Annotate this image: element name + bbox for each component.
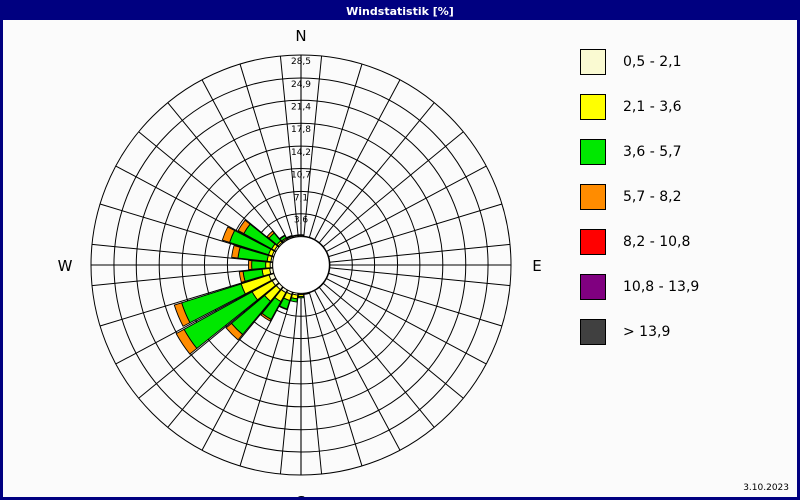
legend-label: 10,8 - 13,9: [623, 279, 699, 295]
grid-spoke: [309, 64, 362, 238]
legend-color-swatch: [580, 94, 606, 120]
windrose-petal-segment: [266, 262, 271, 268]
radial-tick-label: 28,5: [291, 57, 311, 67]
legend-row: > 13,9: [580, 309, 790, 354]
legend-row: 0,5 - 2,1: [580, 39, 790, 84]
compass-label-north: N: [295, 27, 306, 45]
speed-legend: 0,5 - 2,12,1 - 3,63,6 - 5,75,7 - 8,28,2 …: [580, 39, 790, 354]
radial-tick-label: 14,2: [291, 148, 311, 158]
legend-label: 0,5 - 2,1: [623, 54, 681, 70]
legend-color-swatch: [580, 184, 606, 210]
radial-tick-label: 24,9: [291, 80, 311, 90]
compass-label-east: E: [532, 257, 541, 275]
legend-label: 5,7 - 8,2: [623, 189, 681, 205]
radial-tick-label: 17,8: [291, 125, 311, 135]
legend-label: 8,2 - 10,8: [623, 234, 690, 250]
radial-tick-label: 21,4: [291, 102, 311, 112]
radial-tick-label: 3,6: [294, 216, 309, 226]
legend-color-swatch: [580, 229, 606, 255]
compass-label-west: W: [58, 257, 73, 275]
legend-color-swatch: [580, 49, 606, 75]
windrose-petal-segment: [298, 235, 303, 236]
legend-color-swatch: [580, 139, 606, 165]
calm-disc: [273, 237, 330, 294]
date-stamp: 3.10.2023: [743, 483, 789, 493]
legend-label: 2,1 - 3,6: [623, 99, 681, 115]
windrose-chart: 3,67,110,714,217,821,424,928,5 NESW: [3, 20, 563, 497]
legend-row: 10,8 - 13,9: [580, 264, 790, 309]
grid-spoke: [328, 204, 502, 257]
legend-color-swatch: [580, 319, 606, 345]
legend-row: 2,1 - 3,6: [580, 84, 790, 129]
legend-color-swatch: [580, 274, 606, 300]
window-title-bar: Windstatistik [%]: [3, 3, 797, 20]
grid-spoke: [240, 64, 293, 238]
grid-spoke: [309, 292, 362, 466]
legend-label: 3,6 - 5,7: [623, 144, 681, 160]
radial-tick-label: 7,1: [294, 193, 308, 203]
window-title: Windstatistik [%]: [346, 5, 454, 18]
grid-spoke: [328, 273, 502, 326]
windrose-petal-segment: [298, 296, 304, 297]
windrose-petal-segment: [291, 298, 298, 302]
legend-row: 3,6 - 5,7: [580, 129, 790, 174]
legend-row: 8,2 - 10,8: [580, 219, 790, 264]
windrose-petal-segment: [252, 261, 266, 270]
calm-center-disc: [273, 237, 330, 294]
windstatistik-window: Windstatistik [%] 3,67,110,714,217,821,4…: [0, 0, 800, 500]
legend-label: > 13,9: [623, 324, 670, 340]
legend-row: 5,7 - 8,2: [580, 174, 790, 219]
radial-tick-label: 10,7: [291, 171, 311, 181]
windrose-petal-segment: [248, 260, 251, 269]
compass-label-south: S: [296, 493, 306, 497]
